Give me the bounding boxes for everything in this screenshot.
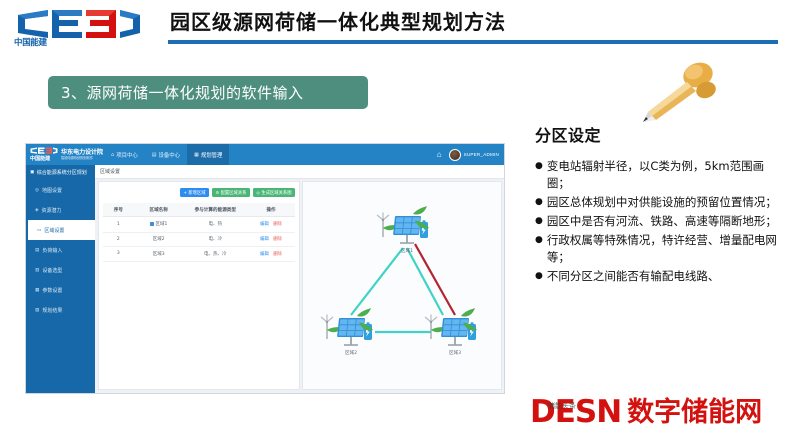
configure-region-relation-button[interactable]: ⚙ 配置区域关系	[212, 188, 250, 197]
app-topbar-right: ⌂ SUPER_ADMIN	[437, 144, 499, 165]
add-region-button-label: 新增区域	[188, 190, 205, 196]
right-column-title: 分区设定	[535, 122, 783, 146]
region-settings-icon: ▭	[37, 228, 41, 233]
device-selection-icon: ▥	[35, 268, 39, 273]
app-sidebar: ▣ 综合能源系统分区规划 ◎ 地图设置 ◈ 资源潜力 ▭ 区域设置 ▤ 负荷输入…	[26, 165, 95, 393]
sidebar-item-planning-results[interactable]: ▧ 规划结果	[26, 300, 95, 320]
sidebar-item-map-settings-label: 地图设置	[42, 187, 62, 194]
col-index: 序号	[103, 203, 134, 217]
edit-link[interactable]: 编辑	[260, 252, 269, 257]
desn-watermark-cn: 数字储能网	[627, 399, 762, 426]
add-region-button[interactable]: + 新增区域	[180, 188, 209, 197]
admin-username: SUPER_ADMIN	[464, 152, 499, 157]
region-relation-diagram[interactable]: 区域1 区域2 区域3	[302, 181, 502, 390]
sidebar-item-region-settings[interactable]: ▭ 区域设置	[28, 220, 95, 240]
cell-region-name-text: 区域1	[155, 221, 167, 227]
bullet-marker-icon: ●	[535, 232, 543, 249]
sidebar-item-resource-potential[interactable]: ◈ 资源潜力	[26, 200, 95, 220]
diagram-node-region2-label: 区域2	[345, 349, 357, 356]
link-region1-region3-cyan	[407, 248, 443, 315]
app-main: 区域设置 + 新增区域 ⚙ 配置区域关系 ◎ 生成区域关系图	[95, 165, 504, 393]
bullet-text: 行政权属等特殊情况，特许经营、增量配电网等；	[547, 232, 783, 266]
section-banner: 3、源网荷储一体化规划的软件输入	[48, 76, 368, 109]
sidebar-item-parameter-settings-label: 参数设置	[42, 287, 62, 294]
load-input-icon: ▤	[35, 248, 39, 253]
cell-index: 3	[103, 247, 134, 262]
planning-results-icon: ▧	[35, 308, 39, 313]
region-table-panel: + 新增区域 ⚙ 配置区域关系 ◎ 生成区域关系图 序号 区域名称	[98, 181, 300, 390]
right-text-column: 分区设定 ● 变电站辐射半径，以C类为例，5km范围画圈； ● 园区总体规划中对…	[535, 122, 783, 287]
bullet-marker-icon: ●	[535, 268, 543, 285]
table-row[interactable]: 1 区域1 电、热 编辑 删除	[103, 217, 295, 233]
cell-index: 2	[103, 232, 134, 247]
plus-icon: +	[184, 190, 187, 195]
parameter-settings-icon: ▦	[35, 288, 39, 293]
bullet-text: 园区中是否有河流、铁路、高速等隔断地形；	[547, 213, 783, 230]
desn-watermark-sub: 储能头条	[548, 401, 576, 411]
region-marker-icon	[150, 222, 154, 226]
diagram-node-region1	[377, 206, 429, 243]
cell-operations: 编辑 删除	[247, 247, 295, 262]
cell-energy-types: 电、热、冷	[184, 247, 247, 262]
bullet-item: ● 不同分区之间能否有输配电线路、	[535, 268, 783, 285]
col-energy-types: 参与计算的能源类型	[184, 203, 247, 217]
gear-icon: ⚙	[216, 190, 220, 195]
bullet-marker-icon: ●	[535, 194, 543, 211]
sidebar-item-device-selection[interactable]: ▥ 设备选型	[26, 260, 95, 280]
nav-tab-devices-label: 设备中心	[159, 151, 181, 159]
sidebar-header-icon: ▣	[30, 170, 34, 175]
diagram-node-region2	[321, 308, 373, 345]
bullet-marker-icon: ●	[535, 158, 543, 175]
edit-link[interactable]: 编辑	[260, 222, 269, 227]
app-logo-tagline: 智能电源系统规划软件	[61, 155, 93, 160]
bullet-item: ● 行政权属等特殊情况，特许经营、增量配电网等；	[535, 232, 783, 266]
diagram-node-region1-label: 区域1	[401, 247, 413, 254]
home-icon[interactable]: ⌂	[437, 151, 442, 159]
bullet-list: ● 变电站辐射半径，以C类为例，5km范围画圈； ● 园区总体规划中对供能设施的…	[535, 158, 783, 285]
device-center-icon: ▤	[152, 152, 157, 158]
project-center-icon: ⌂	[111, 152, 114, 158]
link-region1-region2	[351, 248, 403, 315]
table-row[interactable]: 2 区域2 电、冷 编辑 删除	[103, 232, 295, 247]
cell-region-name: 区域1	[134, 217, 184, 233]
nav-tab-projects[interactable]: ⌂ 项目中心	[104, 144, 145, 165]
cell-region-name: 区域2	[134, 232, 184, 247]
configure-region-relation-button-label: 配置区域关系	[221, 190, 247, 196]
region-table-head: 序号 区域名称 参与计算的能源类型 操作	[103, 203, 295, 217]
sidebar-item-parameter-settings[interactable]: ▦ 参数设置	[26, 280, 95, 300]
cell-energy-types: 电、冷	[184, 232, 247, 247]
resource-potential-icon: ◈	[35, 208, 39, 213]
app-logo: 中国能建 华东电力设计院 智能电源系统规划软件	[30, 146, 92, 164]
sidebar-item-resource-potential-label: 资源潜力	[42, 207, 62, 214]
app-logo-mark-icon	[30, 147, 58, 154]
bullet-item: ● 园区中是否有河流、铁路、高速等隔断地形；	[535, 213, 783, 230]
region-diagram-svg: 区域1 区域2 区域3	[303, 182, 501, 389]
bullet-text: 园区总体规划中对供能设施的预留位置情况；	[547, 194, 783, 211]
bullet-text: 不同分区之间能否有输配电线路、	[547, 268, 783, 285]
page-title: 园区级源网荷储一体化典型规划方法	[170, 6, 770, 35]
link-region1-region3-red	[415, 244, 455, 315]
nav-tab-planning-label: 规划管理	[201, 151, 223, 159]
breadcrumb: 区域设置	[100, 168, 120, 175]
sidebar-header-label: 综合能源系统分区规划	[37, 169, 87, 176]
table-row[interactable]: 3 区域3 电、热、冷 编辑 删除	[103, 247, 295, 262]
app-nav-tabs: ⌂ 项目中心 ▤ 设备中心 ▦ 规划管理	[104, 144, 229, 165]
sidebar-item-load-input[interactable]: ▤ 负荷输入	[26, 240, 95, 260]
col-region-name: 区域名称	[134, 203, 184, 217]
col-operations: 操作	[247, 203, 295, 217]
nav-tab-devices[interactable]: ▤ 设备中心	[145, 144, 187, 165]
diagram-node-region3	[425, 308, 477, 345]
cell-region-name: 区域3	[134, 247, 184, 262]
section-banner-label: 3、源网荷储一体化规划的软件输入	[48, 82, 304, 103]
region-table-body: 1 区域1 电、热 编辑 删除	[103, 217, 295, 262]
cell-operations: 编辑 删除	[247, 217, 295, 233]
desn-watermark: DESN 数字储能网 储能头条	[530, 393, 786, 431]
cell-operations: 编辑 删除	[247, 232, 295, 247]
app-logo-cn: 中国能建	[30, 155, 50, 162]
pen-icon	[640, 60, 718, 122]
sidebar-item-device-selection-label: 设备选型	[42, 267, 62, 274]
diagram-node-region3-label: 区域3	[449, 349, 461, 356]
ceec-logo-subtext: 中国能建	[14, 36, 78, 48]
bullet-text: 变电站辐射半径，以C类为例，5km范围画圈；	[547, 158, 783, 192]
generate-region-diagram-button-label: 生成区域关系图	[261, 190, 291, 196]
sidebar-item-region-settings-label: 区域设置	[44, 227, 64, 234]
diagram-icon: ◎	[256, 190, 260, 195]
sidebar-item-map-settings[interactable]: ◎ 地图设置	[26, 180, 95, 200]
sidebar-header: ▣ 综合能源系统分区规划	[26, 165, 95, 180]
toolbar-buttons: + 新增区域 ⚙ 配置区域关系 ◎ 生成区域关系图	[99, 182, 299, 201]
sidebar-item-load-input-label: 负荷输入	[42, 247, 62, 254]
bullet-item: ● 园区总体规划中对供能设施的预留位置情况；	[535, 194, 783, 211]
bullet-marker-icon: ●	[535, 213, 543, 230]
breadcrumb-bar: 区域设置	[95, 165, 504, 179]
delete-link[interactable]: 删除	[273, 222, 282, 227]
app-screenshot: 中国能建 华东电力设计院 智能电源系统规划软件 ⌂ 项目中心 ▤ 设备中心 ▦ …	[25, 143, 505, 394]
avatar[interactable]	[449, 149, 461, 161]
nav-tab-planning[interactable]: ▦ 规划管理	[187, 144, 229, 165]
delete-link[interactable]: 删除	[273, 252, 282, 257]
app-topbar: 中国能建 华东电力设计院 智能电源系统规划软件 ⌂ 项目中心 ▤ 设备中心 ▦ …	[26, 144, 504, 165]
map-settings-icon: ◎	[35, 188, 39, 193]
planning-icon: ▦	[194, 152, 199, 158]
slide-header: 中国能建 园区级源网荷储一体化典型规划方法	[0, 0, 790, 55]
delete-link[interactable]: 删除	[273, 237, 282, 242]
table-header-row: 序号 区域名称 参与计算的能源类型 操作	[103, 203, 295, 217]
edit-link[interactable]: 编辑	[260, 237, 269, 242]
title-underline	[168, 40, 778, 44]
bullet-item: ● 变电站辐射半径，以C类为例，5km范围画圈；	[535, 158, 783, 192]
cell-index: 1	[103, 217, 134, 233]
sidebar-item-planning-results-label: 规划结果	[42, 307, 62, 314]
cell-energy-types: 电、热	[184, 217, 247, 233]
nav-tab-projects-label: 项目中心	[116, 151, 138, 159]
generate-region-diagram-button[interactable]: ◎ 生成区域关系图	[253, 188, 295, 197]
region-table: 序号 区域名称 参与计算的能源类型 操作 1 区域1	[103, 203, 295, 262]
